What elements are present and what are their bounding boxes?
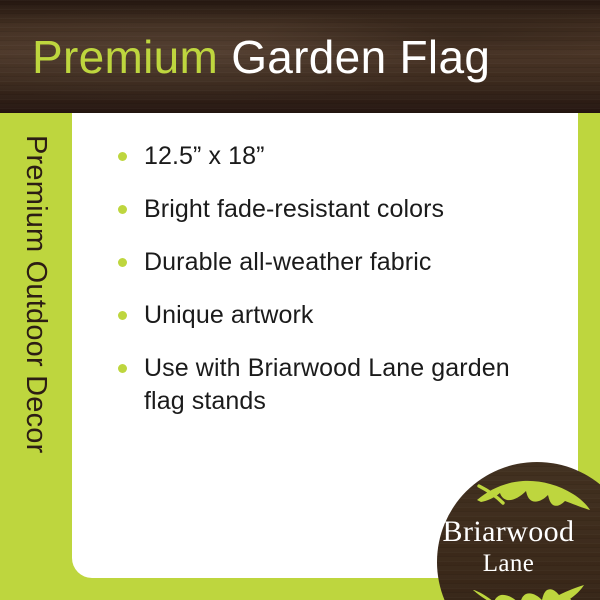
bullet-dot-icon xyxy=(118,258,127,267)
list-item: Unique artwork xyxy=(118,299,548,332)
leaf-icon xyxy=(473,474,593,514)
list-item: Bright fade-resistant colors xyxy=(118,193,548,226)
list-item: Durable all-weather fabric xyxy=(118,246,548,279)
header-banner: Premium Garden Flag xyxy=(0,0,600,113)
list-item-label: 12.5” x 18” xyxy=(144,142,265,170)
list-item: 12.5” x 18” xyxy=(118,140,548,173)
page-title: Premium Garden Flag xyxy=(32,30,490,84)
list-item-label: Unique artwork xyxy=(144,301,314,329)
logo-line-2: Lane xyxy=(437,548,580,579)
list-item-label: Bright fade-resistant colors xyxy=(144,195,444,223)
feature-list: 12.5” x 18” Bright fade-resistant colors… xyxy=(118,140,548,418)
bullet-dot-icon xyxy=(118,205,127,214)
bullet-dot-icon xyxy=(118,364,127,373)
list-item: Use with Briarwood Lane garden flag stan… xyxy=(118,352,548,418)
bullet-dot-icon xyxy=(118,311,127,320)
logo-wordmark: Briarwood Lane xyxy=(437,516,580,579)
leaf-icon xyxy=(467,580,587,600)
vertical-sidebar: Premium Outdoor Decor xyxy=(0,113,72,600)
title-premium: Premium xyxy=(32,31,218,83)
logo-line-1: Briarwood xyxy=(437,516,580,548)
title-garden-flag: Garden Flag xyxy=(231,31,490,83)
bullet-dot-icon xyxy=(118,152,127,161)
product-info-card: Premium Garden Flag Premium Outdoor Deco… xyxy=(0,0,600,600)
sidebar-label: Premium Outdoor Decor xyxy=(0,113,72,600)
list-item-label: Use with Briarwood Lane garden flag stan… xyxy=(144,354,510,415)
list-item-label: Durable all-weather fabric xyxy=(144,248,431,276)
